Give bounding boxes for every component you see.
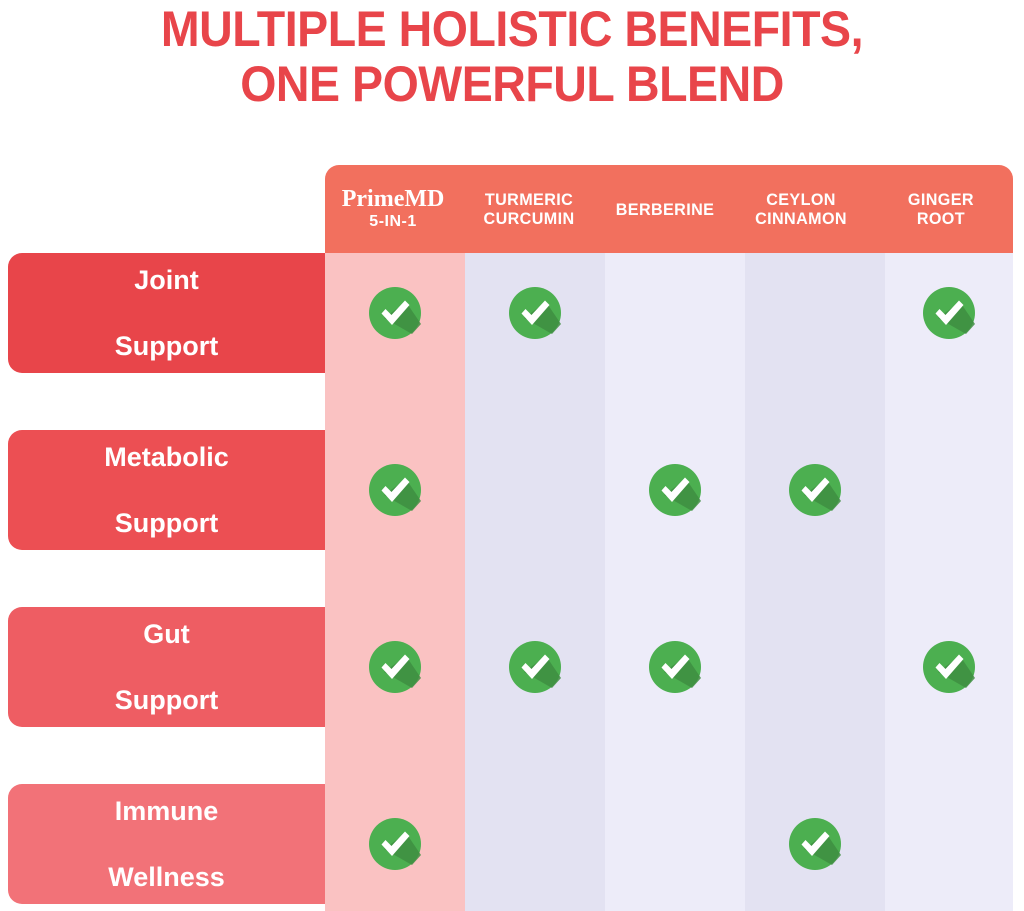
row-label-1: JointSupport <box>8 253 325 373</box>
green-check-circle-icon <box>920 284 978 342</box>
green-check-circle-icon <box>646 638 704 696</box>
cell-ceylon-cinnamon <box>745 430 885 550</box>
cell-ceylon-cinnamon <box>745 253 885 373</box>
green-check-circle-icon <box>920 638 978 696</box>
row-label-line-1: Gut <box>115 618 218 651</box>
cell-turmeric-curcumin <box>465 607 605 727</box>
row-cells <box>325 253 1013 373</box>
comparison-infographic: MULTIPLE HOLISTIC BENEFITS, ONE POWERFUL… <box>0 0 1024 911</box>
row-label-line-1: Joint <box>115 264 218 297</box>
cell-primemd <box>325 253 465 373</box>
green-check-circle-icon <box>506 638 564 696</box>
cell-berberine <box>605 430 745 550</box>
green-check-circle-icon <box>506 284 564 342</box>
table-row: MetabolicSupport <box>8 430 1013 550</box>
turmeric-label-line-2: CURCUMIN <box>466 209 591 228</box>
ginger-label-line-1: GINGER <box>875 190 1008 209</box>
cell-primemd <box>325 784 465 904</box>
green-check-circle-icon <box>646 461 704 519</box>
ceylon-label-line-2: CINNAMON <box>738 209 863 228</box>
table-row: JointSupport <box>8 253 1013 373</box>
green-check-circle-icon <box>786 461 844 519</box>
primemd-brand-label: PrimeMD <box>327 186 459 212</box>
cell-turmeric-curcumin <box>465 253 605 373</box>
table-row: GutSupport <box>8 607 1013 727</box>
column-header-ceylon-cinnamon: CEYLON CINNAMON <box>733 190 869 228</box>
column-header-ginger-root: GINGER ROOT <box>869 190 1013 228</box>
cell-primemd <box>325 607 465 727</box>
row-label-line-1: Immune <box>108 795 225 828</box>
column-header-turmeric-curcumin: TURMERIC CURCUMIN <box>461 190 597 228</box>
row-label-line-2: Support <box>115 684 218 717</box>
green-check-circle-icon <box>366 284 424 342</box>
cell-berberine <box>605 784 745 904</box>
green-check-circle-icon <box>786 815 844 873</box>
green-check-circle-icon <box>366 461 424 519</box>
row-label-line-2: Support <box>115 330 218 363</box>
cell-ceylon-cinnamon <box>745 784 885 904</box>
cell-primemd <box>325 430 465 550</box>
cell-ginger-root <box>885 253 1013 373</box>
column-header-primemd: PrimeMD 5-IN-1 <box>325 186 461 232</box>
cell-turmeric-curcumin <box>465 784 605 904</box>
cell-turmeric-curcumin <box>465 430 605 550</box>
row-label-3: GutSupport <box>8 607 325 727</box>
cell-ginger-root <box>885 430 1013 550</box>
turmeric-label-line-1: TURMERIC <box>466 190 591 209</box>
row-label-line-1: Metabolic <box>104 441 229 474</box>
comparison-table: PrimeMD 5-IN-1 TURMERIC CURCUMIN BERBERI… <box>0 165 1024 911</box>
title-line-1: MULTIPLE HOLISTIC BENEFITS, <box>36 2 988 57</box>
table-row: ImmuneWellness <box>8 784 1013 904</box>
cell-berberine <box>605 607 745 727</box>
row-label-4: ImmuneWellness <box>8 784 325 904</box>
row-label-line-2: Wellness <box>108 861 225 894</box>
row-cells <box>325 430 1013 550</box>
primemd-sub-label: 5-IN-1 <box>327 212 459 232</box>
ginger-label-line-2: ROOT <box>875 209 1008 228</box>
cell-ginger-root <box>885 784 1013 904</box>
green-check-circle-icon <box>366 815 424 873</box>
cell-ginger-root <box>885 607 1013 727</box>
green-check-circle-icon <box>366 638 424 696</box>
row-label-line-2: Support <box>104 507 229 540</box>
title-line-2: ONE POWERFUL BLEND <box>36 57 988 112</box>
ceylon-label-line-1: CEYLON <box>738 190 863 209</box>
cell-ceylon-cinnamon <box>745 607 885 727</box>
row-cells <box>325 607 1013 727</box>
row-cells <box>325 784 1013 904</box>
berberine-label-line-1: BERBERINE <box>602 200 727 219</box>
cell-berberine <box>605 253 745 373</box>
row-label-2: MetabolicSupport <box>8 430 325 550</box>
page-title: MULTIPLE HOLISTIC BENEFITS, ONE POWERFUL… <box>0 2 1024 112</box>
column-header-berberine: BERBERINE <box>597 200 733 219</box>
table-header-row: PrimeMD 5-IN-1 TURMERIC CURCUMIN BERBERI… <box>325 165 1013 253</box>
